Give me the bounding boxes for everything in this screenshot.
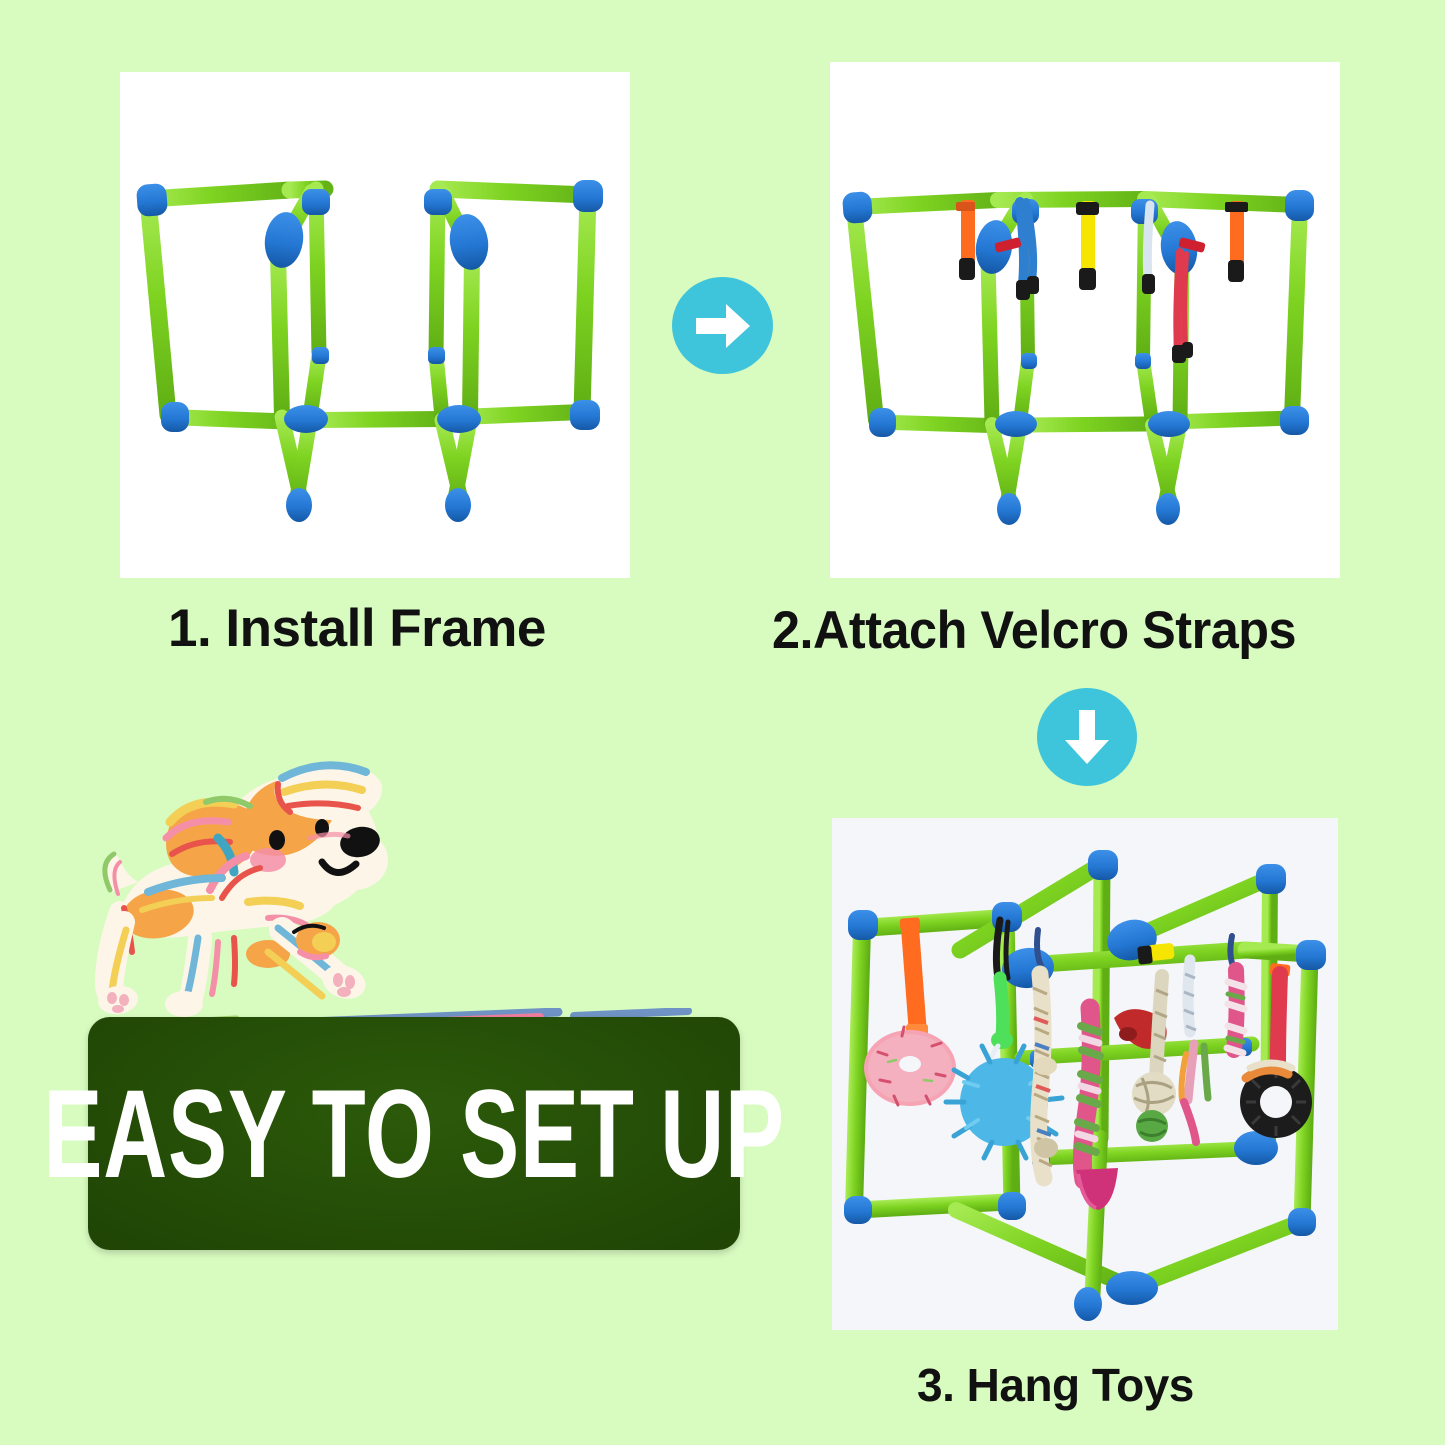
step-3-caption: 3. Hang Toys [917, 1358, 1194, 1412]
step-2-photo-panel [830, 62, 1340, 578]
frame-photo-step-1 [120, 72, 630, 578]
easy-to-set-up-label: EASY TO SET UP [43, 1071, 784, 1196]
step-1-caption: 1. Install Frame [168, 598, 546, 659]
arrow-down-icon [1037, 688, 1137, 786]
easy-to-set-up-badge: EASY TO SET UP [88, 1017, 740, 1250]
frame-photo-step-3 [832, 818, 1338, 1330]
infographic-stage: 1. Install Frame [0, 0, 1445, 1445]
pink-braid-toy [1227, 970, 1244, 1053]
step-1-photo-panel [120, 72, 630, 578]
frame-photo-step-2 [830, 62, 1340, 578]
arrow-right-icon [672, 277, 773, 374]
step-3-photo-panel [832, 818, 1338, 1330]
running-dog-icon [72, 742, 392, 1042]
step-2-caption: 2.Attach Velcro Straps [772, 600, 1296, 661]
